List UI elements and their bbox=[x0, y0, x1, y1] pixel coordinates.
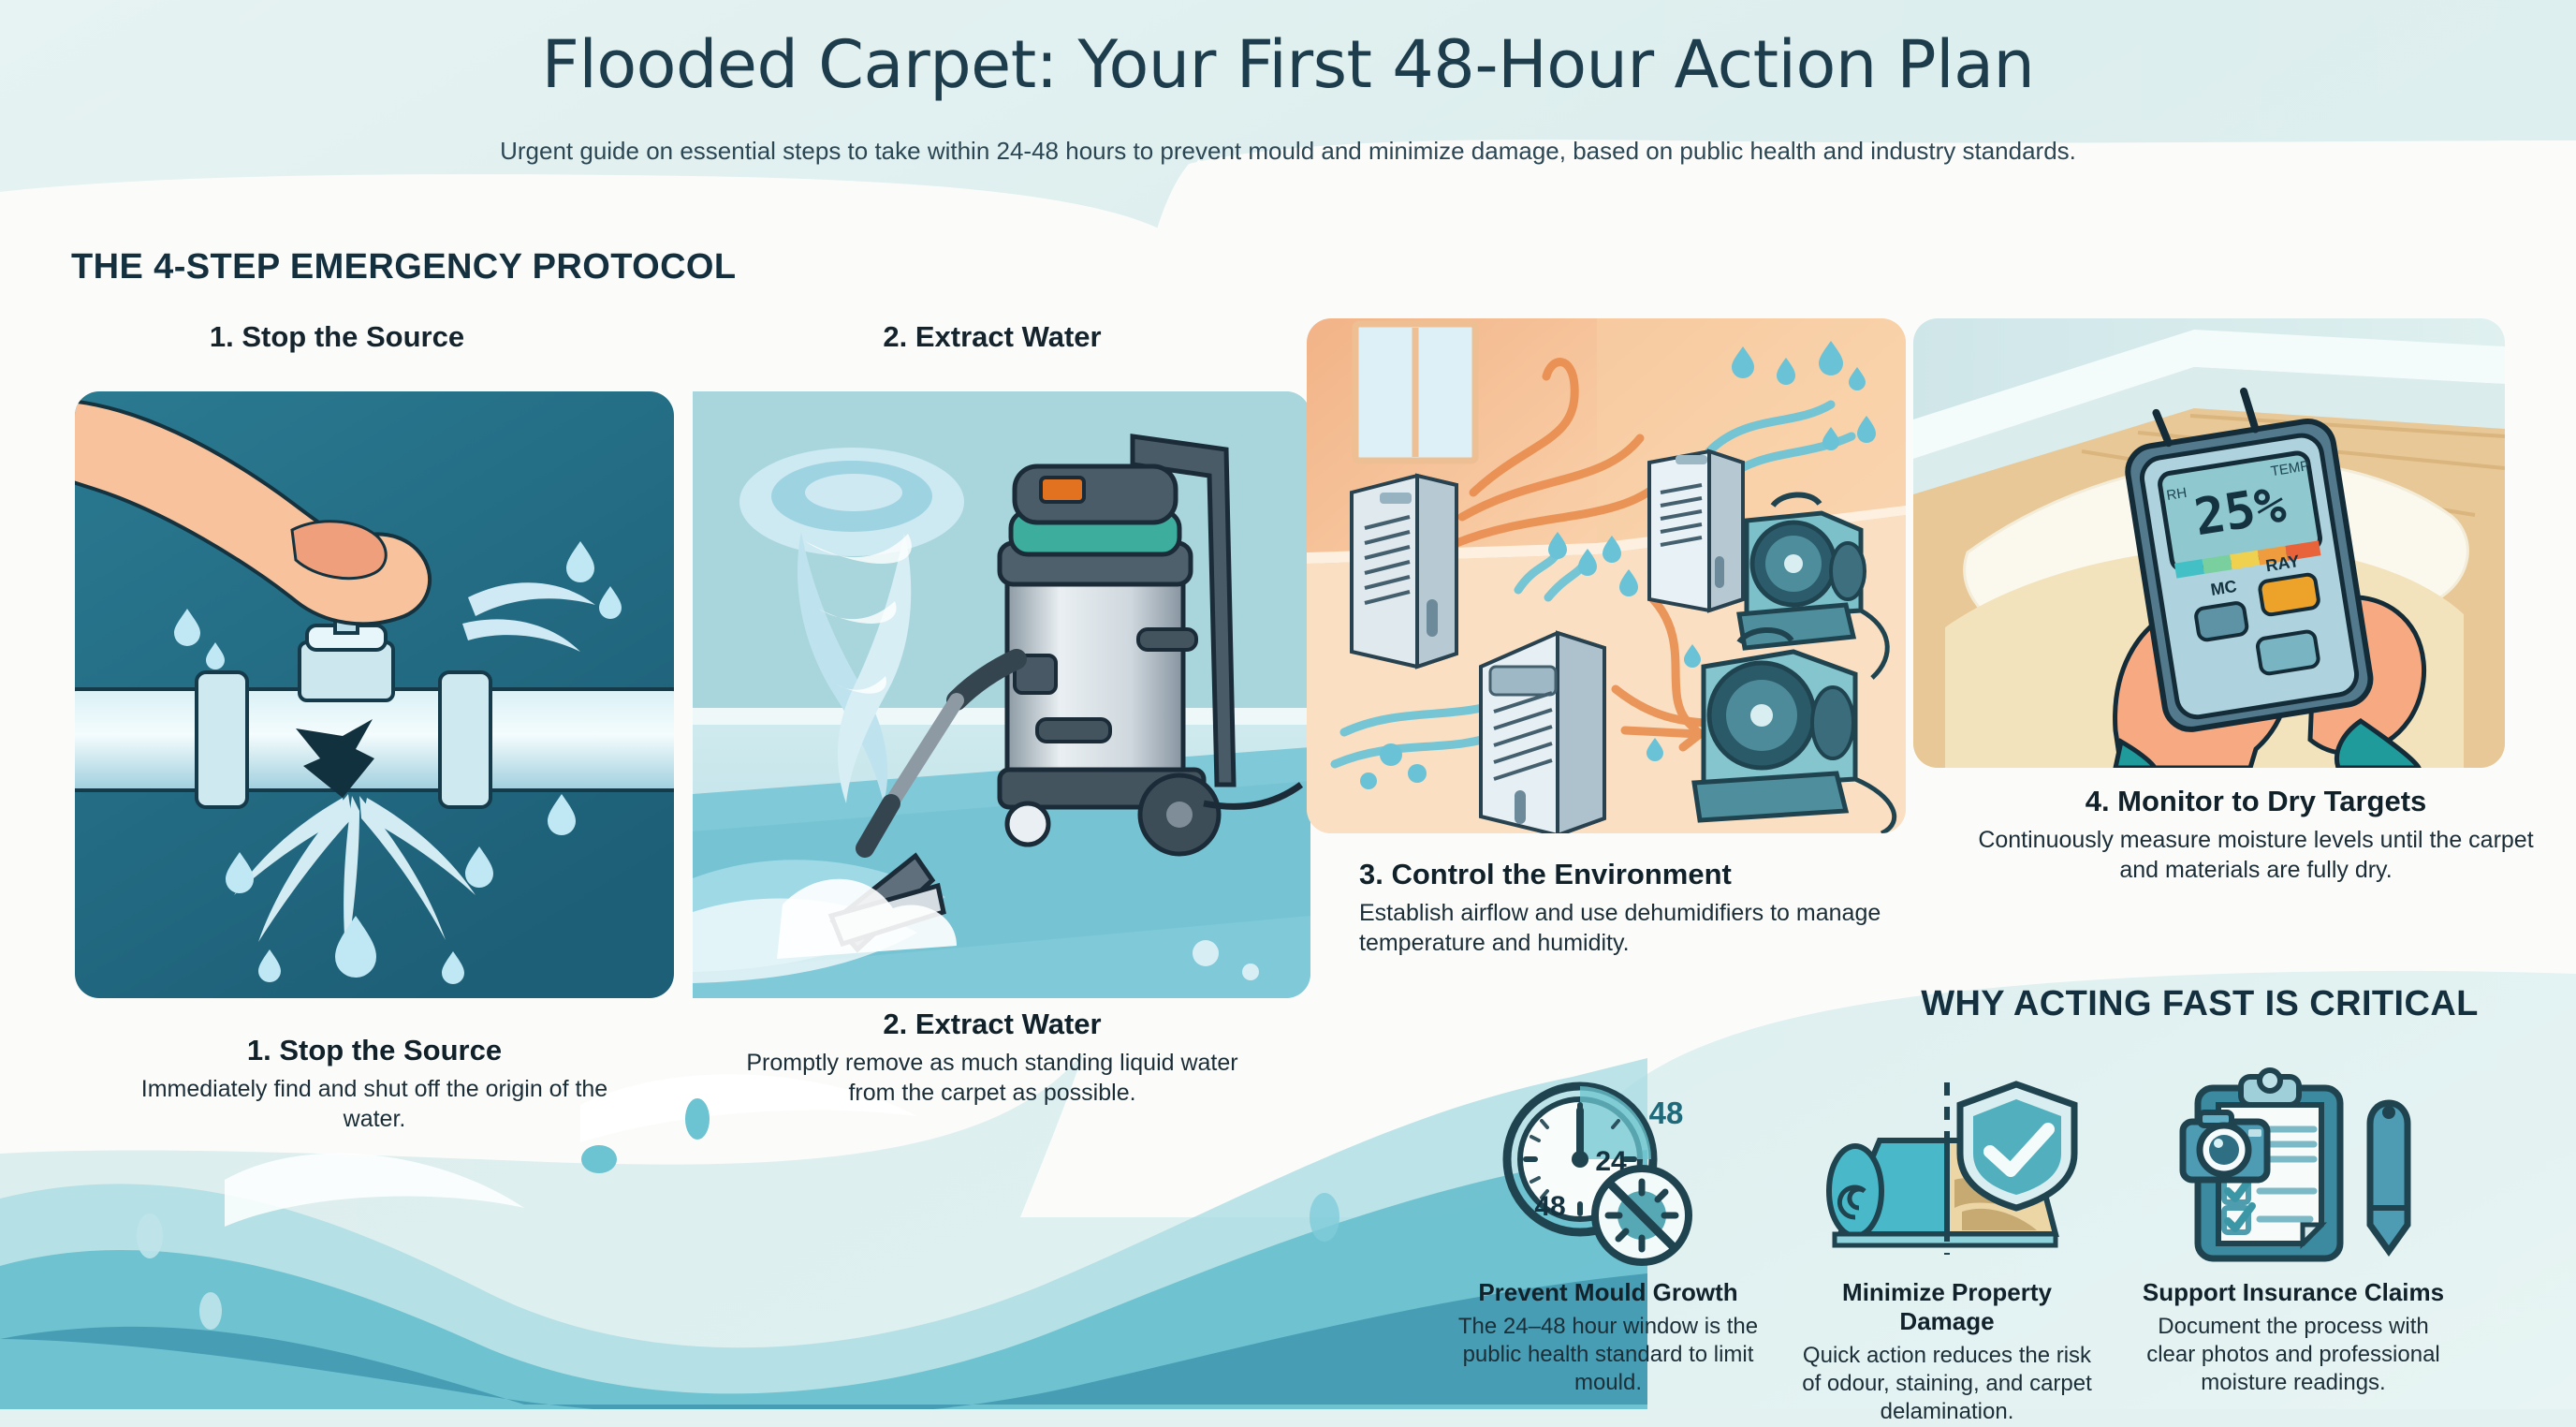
why-section-heading: WHY ACTING FAST IS CRITICAL bbox=[1872, 984, 2527, 1024]
step-4-caption-title: 4. Monitor to Dry Targets bbox=[1966, 785, 2546, 818]
benefit-3-title: Support Insurance Claims bbox=[2139, 1278, 2448, 1307]
step-2-caption: 2. Extract Water Promptly remove as much… bbox=[730, 1008, 1254, 1108]
step-2-top-label: 2. Extract Water bbox=[711, 320, 1273, 354]
protocol-section-heading: THE 4-STEP EMERGENCY PROTOCOL bbox=[71, 247, 737, 287]
step-3-illustration-panel bbox=[1307, 318, 1906, 833]
page-title: Flooded Carpet: Your First 48-Hour Actio… bbox=[0, 26, 2576, 103]
step-3-caption: 3. Control the Environment Establish air… bbox=[1359, 858, 1939, 958]
step-2-caption-title: 2. Extract Water bbox=[730, 1008, 1254, 1041]
step-4-caption-body: Continuously measure moisture levels unt… bbox=[1966, 825, 2546, 885]
step-1-caption-title: 1. Stop the Source bbox=[112, 1034, 637, 1067]
step-2-illustration-panel bbox=[693, 391, 1310, 998]
clipboard-camera-pen-icon bbox=[2139, 1067, 2448, 1269]
clock-label-48-lower: 48 bbox=[1534, 1191, 1565, 1222]
clock-and-no-mould-icon: 24 48 48 bbox=[1454, 1067, 1763, 1269]
step-1-caption: 1. Stop the Source Immediately find and … bbox=[112, 1034, 637, 1134]
benefit-1-body: The 24–48 hour window is the public heal… bbox=[1454, 1313, 1763, 1398]
page-subtitle: Urgent guide on essential steps to take … bbox=[0, 137, 2576, 166]
step-1-caption-body: Immediately find and shut off the origin… bbox=[112, 1074, 637, 1134]
benefit-card-prevent-mould: 24 48 48 Prevent Mould Growth The 24–48 … bbox=[1454, 1067, 1763, 1398]
svg-text:RH: RH bbox=[2165, 485, 2188, 504]
clock-label-48-outer: 48 bbox=[1649, 1096, 1684, 1130]
step-4-caption: 4. Monitor to Dry Targets Continuously m… bbox=[1966, 785, 2546, 885]
benefit-2-body: Quick action reduces the risk of odour, … bbox=[1793, 1342, 2101, 1427]
step-4-illustration-panel: 25% RH TEMP MC RAY bbox=[1913, 318, 2505, 768]
benefit-1-title: Prevent Mould Growth bbox=[1454, 1278, 1763, 1307]
step-3-caption-body: Establish airflow and use dehumidifiers … bbox=[1359, 898, 1939, 958]
step-3-caption-title: 3. Control the Environment bbox=[1359, 858, 1939, 891]
step-2-caption-body: Promptly remove as much standing liquid … bbox=[730, 1048, 1254, 1108]
benefit-card-minimize-damage: Minimize Property Damage Quick action re… bbox=[1793, 1067, 2101, 1427]
carpet-roll-shield-icon bbox=[1793, 1067, 2101, 1269]
step-1-illustration-panel bbox=[75, 391, 674, 998]
benefit-3-body: Document the process with clear photos a… bbox=[2139, 1313, 2448, 1398]
benefit-2-title: Minimize Property Damage bbox=[1793, 1278, 2101, 1336]
benefit-card-insurance-claims: Support Insurance Claims Document the pr… bbox=[2139, 1067, 2448, 1398]
step-1-top-label: 1. Stop the Source bbox=[75, 320, 599, 354]
